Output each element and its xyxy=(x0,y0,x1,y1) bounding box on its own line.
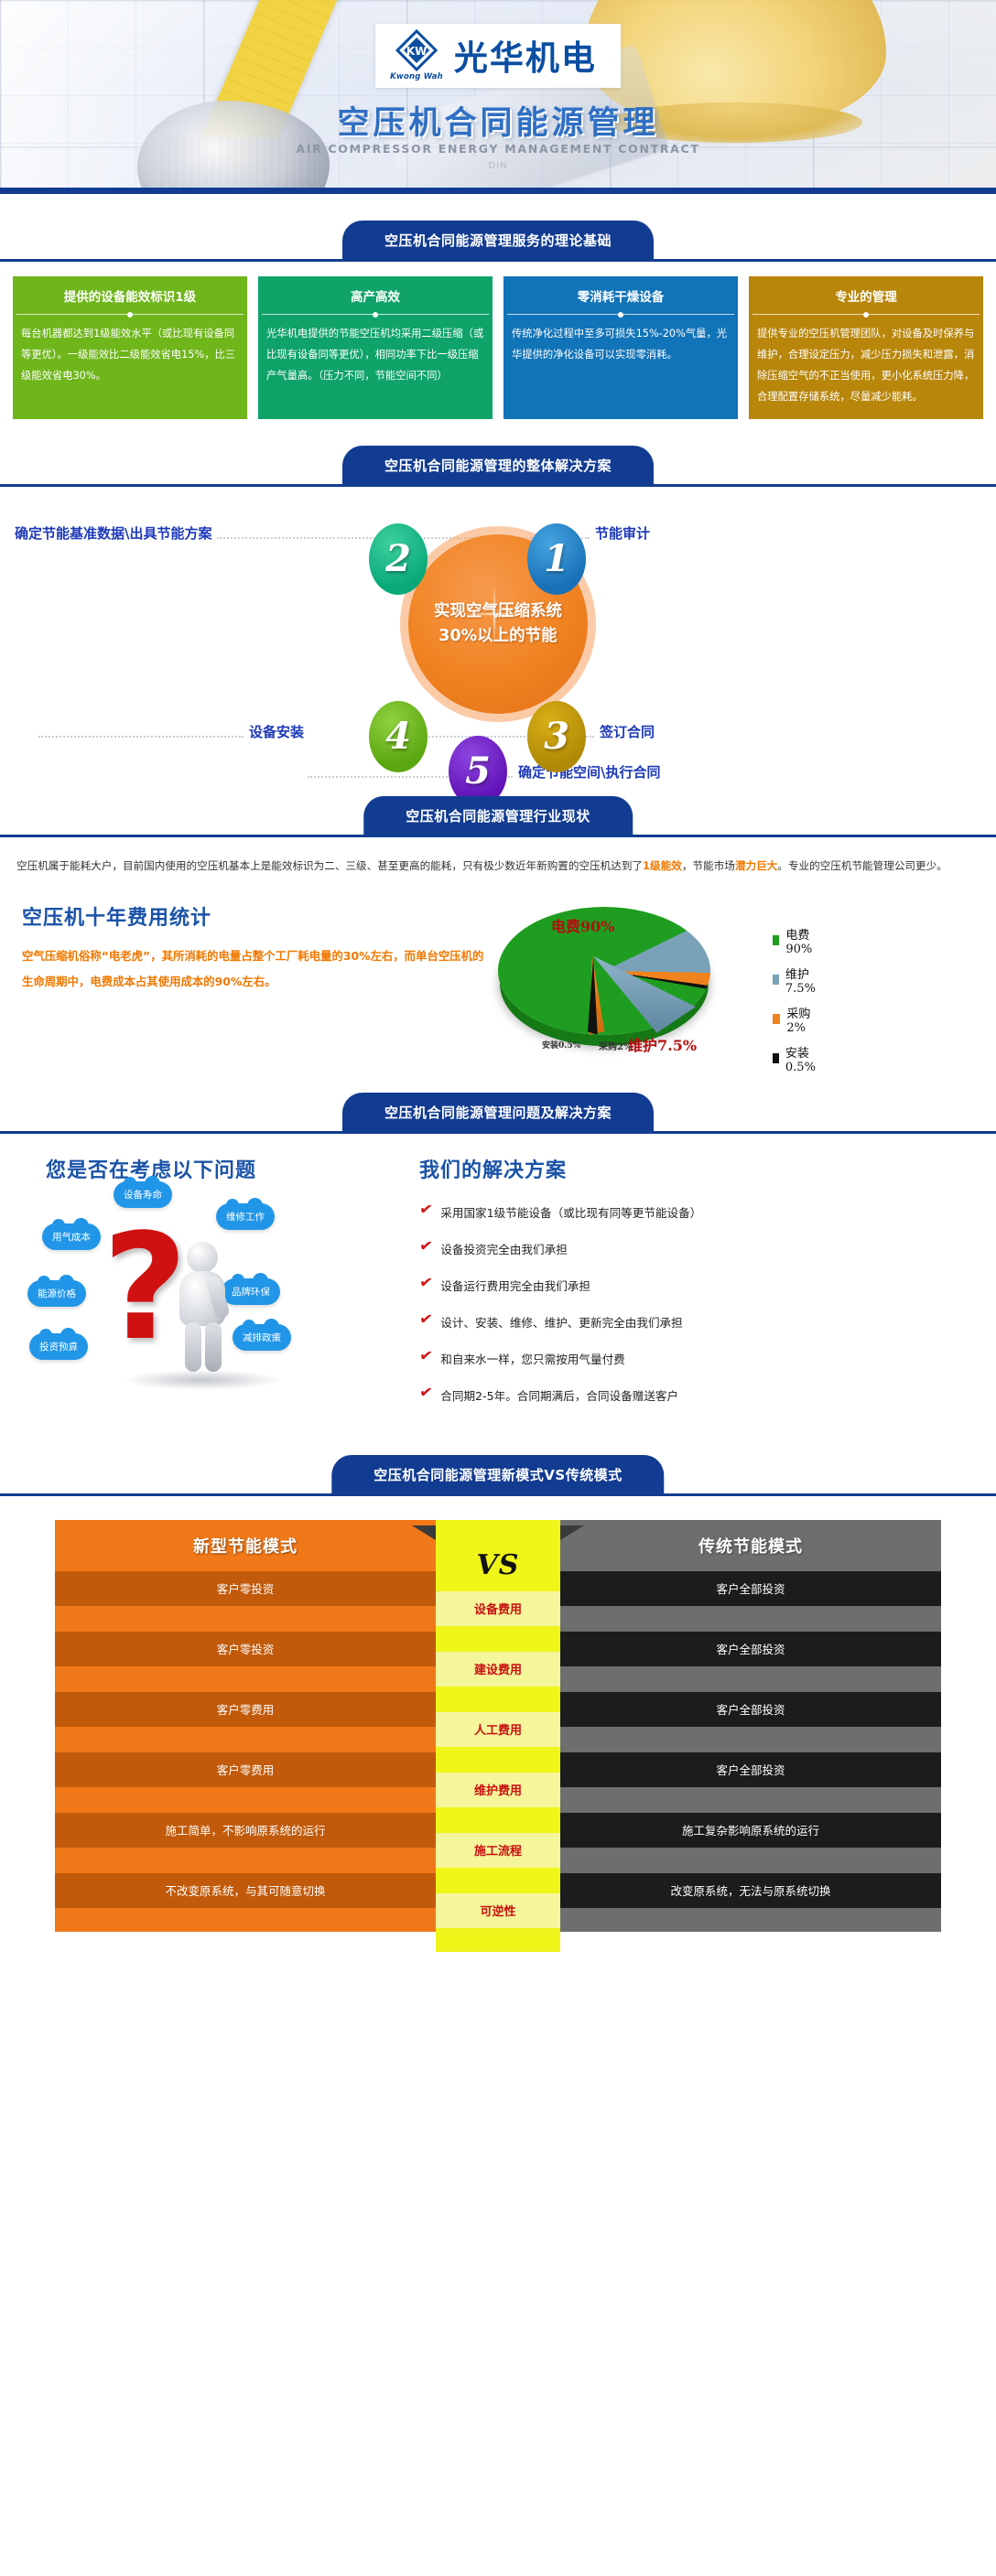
circle-node-1[interactable]: 1 xyxy=(527,523,586,595)
problem-cloud-investment-budget: 投资预算 xyxy=(29,1333,88,1360)
column-header-traditional: 传统节能模式 xyxy=(560,1520,941,1571)
solution-text: 采用国家1级节能设备（或比现有同等更节能设备） xyxy=(440,1203,701,1221)
table-row: 建设费用 xyxy=(436,1652,560,1687)
pie-data-label-electricity: 电费90% xyxy=(551,914,614,936)
table-row: 客户全部投资 xyxy=(560,1632,941,1666)
legend-label: 维护7.5% xyxy=(785,965,819,996)
card-title: 提供的设备能效标识1级 xyxy=(13,276,247,314)
row-spacer xyxy=(55,1727,436,1752)
core-line-2: 30%以上的节能 xyxy=(438,624,557,649)
problems-column: 您是否在考虑以下问题 设备寿命 维修工作 用气成本 能源价格 品牌环保 减排政策… xyxy=(15,1154,408,1428)
solution-text: 设计、安装、维修、维护、更新完全由我们承担 xyxy=(440,1313,682,1331)
row-spacer xyxy=(436,1626,560,1652)
legend-swatch-electricity xyxy=(773,935,779,945)
logo-company-name: 光华机电 xyxy=(454,30,597,80)
legend-swatch-purchase xyxy=(773,1014,780,1024)
circle-label-1: 节能审计 xyxy=(595,523,650,543)
list-item: ✔ 设计、安装、维修、维护、更新完全由我们承担 xyxy=(419,1313,981,1331)
cost-heading: 空压机十年费用统计 xyxy=(22,901,485,931)
problem-cloud-repair-work: 维修工作 xyxy=(216,1203,275,1230)
circle-label-4: 设备安装 xyxy=(249,722,304,741)
row-spacer xyxy=(560,1848,941,1873)
pie-data-label-installation: 安装0.5% xyxy=(542,1039,580,1051)
check-icon: ✔ xyxy=(418,1275,433,1292)
theory-card-2: 高产高效 光华机电提供的节能空压机均采用二级压缩（或比现有设备同等更优），相同功… xyxy=(258,276,493,419)
table-row: 客户零费用 xyxy=(55,1692,436,1727)
card-title: 高产高效 xyxy=(258,276,493,314)
core-line-1: 实现空气压缩系统 xyxy=(434,599,562,624)
circle-node-4[interactable]: 4 xyxy=(369,701,428,772)
table-row: 客户全部投资 xyxy=(560,1752,941,1787)
row-spacer xyxy=(560,1606,941,1632)
comparison-column-new: 新型节能模式 客户零投资 客户零投资 客户零费用 客户零费用 施工简单，不影响原… xyxy=(55,1520,436,1952)
check-icon: ✔ xyxy=(418,1238,433,1256)
table-row: 客户零费用 xyxy=(55,1752,436,1787)
legend-label: 采购2% xyxy=(786,1004,819,1035)
theory-card-4: 专业的管理 提供专业的空压机管理团队，对设备及时保养与维护，合理设定压力，减少压… xyxy=(749,276,983,419)
card-body: 光华机电提供的节能空压机均采用二级压缩（或比现有设备同等更优），相同功率下比一级… xyxy=(258,315,493,397)
check-icon: ✔ xyxy=(418,1311,433,1329)
check-icon: ✔ xyxy=(418,1348,433,1365)
card-divider xyxy=(507,314,734,315)
legend-label: 电费90% xyxy=(785,925,819,956)
card-divider xyxy=(262,314,489,315)
pie-data-label-maintenance: 维护7.5% xyxy=(628,1033,697,1055)
table-row: 施工复杂影响原系统的运行 xyxy=(560,1813,941,1848)
solution-circle-diagram: 确定节能基准数据\出具节能方案 节能审计 设备安装 签订合同 确定节能空间\执行… xyxy=(0,490,996,770)
table-row: 施工简单，不影响原系统的运行 xyxy=(55,1813,436,1848)
logo-mark: KW Kwong Wah xyxy=(390,29,443,81)
card-divider xyxy=(752,314,980,315)
industry-highlight-1: 1级能效 xyxy=(643,859,682,872)
row-spacer xyxy=(560,1666,941,1692)
industry-status-body: 空压机属于能耗大户，目前国内使用的空压机基本上是能效标识为二、三级、甚至更高的能… xyxy=(0,837,996,1066)
table-row: 客户全部投资 xyxy=(560,1692,941,1727)
solutions-column: 我们的解决方案 ✔ 采用国家1级节能设备（或比现有同等更节能设备） ✔ 设备投资… xyxy=(408,1154,981,1428)
list-item: ✔ 采用国家1级节能设备（或比现有同等更节能设备） xyxy=(419,1203,981,1221)
list-item: ✔ 设备运行费用完全由我们承担 xyxy=(419,1277,981,1294)
table-row: 不改变原系统，与其可随意切换 xyxy=(55,1873,436,1908)
table-row: 施工流程 xyxy=(436,1833,560,1868)
pie-legend: 电费90% 维护7.5% 采购2% 安装0.5% xyxy=(773,925,819,1083)
section-header-compare: 空压机合同能源管理新模式VS传统模式 xyxy=(0,1456,996,1496)
comparison-table-wrap: 新型节能模式 客户零投资 客户零投资 客户零费用 客户零费用 施工简单，不影响原… xyxy=(0,1496,996,1952)
table-row: 客户零投资 xyxy=(55,1632,436,1666)
circle-node-2[interactable]: 2 xyxy=(369,523,428,595)
card-title: 专业的管理 xyxy=(749,276,983,314)
row-spacer xyxy=(560,1787,941,1813)
problems-heading: 您是否在考虑以下问题 xyxy=(46,1154,408,1183)
legend-item: 电费90% xyxy=(773,925,819,956)
theory-card-1: 提供的设备能效标识1级 每台机器都达到1级能效水平（或比现有设备同等更优）。一级… xyxy=(13,276,247,419)
row-spacer xyxy=(436,1807,560,1833)
table-row: 设备费用 xyxy=(436,1591,560,1626)
section-header-industry: 空压机合同能源管理行业现状 xyxy=(0,797,996,837)
svg-text:KW: KW xyxy=(406,45,428,58)
circle-node-3[interactable]: 3 xyxy=(527,701,586,772)
kw-diamond-icon: KW xyxy=(395,29,438,71)
solution-text: 设备运行费用完全由我们承担 xyxy=(440,1277,590,1294)
section-header-problems: 空压机合同能源管理问题及解决方案 xyxy=(0,1094,996,1134)
card-body: 提供专业的空压机管理团队，对设备及时保养与维护，合理设定压力，减少压力损失和泄露… xyxy=(749,315,983,419)
card-title: 零消耗干燥设备 xyxy=(503,276,738,314)
cost-paragraph: 空气压缩机俗称“电老虎”，其所消耗的电量占整个工厂耗电量的30%左右，而单台空压… xyxy=(22,943,485,996)
column-tail xyxy=(436,1928,560,1952)
list-item: ✔ 设备投资完全由我们承担 xyxy=(419,1240,981,1257)
industry-text-a: 空压机属于能耗大户，目前国内使用的空压机基本上是能效标识为二、三级、甚至更高的能… xyxy=(16,859,643,872)
table-row: 人工费用 xyxy=(436,1712,560,1747)
theory-card-3: 零消耗干燥设备 传统净化过程中至多可损失15%-20%气量，光华提供的净化设备可… xyxy=(503,276,738,419)
cost-statistics-block: 空压机十年费用统计 空气压缩机俗称“电老虎”，其所消耗的电量占整个工厂耗电量的3… xyxy=(16,892,980,1066)
figure-head xyxy=(187,1242,218,1273)
company-logo[interactable]: KW Kwong Wah 光华机电 xyxy=(375,24,621,88)
column-tail xyxy=(55,1908,436,1932)
comparison-table: 新型节能模式 客户零投资 客户零投资 客户零费用 客户零费用 施工简单，不影响原… xyxy=(55,1520,941,1952)
section-title-compare: 空压机合同能源管理新模式VS传统模式 xyxy=(331,1455,664,1493)
vs-badge: VS xyxy=(436,1540,560,1591)
hero-subtitle-secondary: DIN xyxy=(0,161,996,171)
pie-data-label-purchase: 采购2% xyxy=(599,1039,632,1052)
hero-subtitle-english: AIR COMPRESSOR ENERGY MANAGEMENT CONTRAC… xyxy=(0,142,996,156)
figure-leg-right xyxy=(205,1322,222,1372)
row-spacer xyxy=(436,1868,560,1893)
check-icon: ✔ xyxy=(418,1202,433,1219)
legend-item: 维护7.5% xyxy=(773,965,819,996)
industry-text-c: 。专业的空压机节能管理公司更少。 xyxy=(777,859,947,872)
section-header-theory: 空压机合同能源管理服务的理论基础 xyxy=(0,221,996,262)
solution-text: 设备投资完全由我们承担 xyxy=(440,1240,568,1257)
thinking-person-figure xyxy=(170,1242,236,1370)
table-row: 客户全部投资 xyxy=(560,1571,941,1606)
card-body: 传统净化过程中至多可损失15%-20%气量，光华提供的净化设备可以实现零消耗。 xyxy=(503,315,738,376)
section-title-industry: 空压机合同能源管理行业现状 xyxy=(363,796,633,835)
problem-cloud-emission-policy: 减排政策 xyxy=(233,1324,291,1351)
section-title-problems: 空压机合同能源管理问题及解决方案 xyxy=(342,1093,654,1131)
table-row: 客户零投资 xyxy=(55,1571,436,1606)
solutions-list: ✔ 采用国家1级节能设备（或比现有同等更节能设备） ✔ 设备投资完全由我们承担 … xyxy=(419,1203,981,1404)
theory-cards: 提供的设备能效标识1级 每台机器都达到1级能效水平（或比现有设备同等更优）。一级… xyxy=(0,262,996,419)
row-spacer xyxy=(436,1687,560,1712)
list-item: ✔ 和自来水一样，您只需按用气量付费 xyxy=(419,1350,981,1367)
hero-banner: KW Kwong Wah 光华机电 空压机合同能源管理 AIR COMPRESS… xyxy=(0,0,996,194)
table-row: 维护费用 xyxy=(436,1773,560,1807)
logo-romanized-name: Kwong Wah xyxy=(390,73,443,81)
legend-item: 安装0.5% xyxy=(773,1043,819,1074)
card-body: 每台机器都达到1级能效水平（或比现有设备同等更优）。一级能效比二级能效省电15%… xyxy=(13,315,247,397)
legend-label: 安装0.5% xyxy=(785,1043,819,1074)
industry-highlight-2: 潜力巨大 xyxy=(735,859,777,872)
row-spacer xyxy=(55,1606,436,1632)
table-row: 可逆性 xyxy=(436,1893,560,1928)
section-title-theory: 空压机合同能源管理服务的理论基础 xyxy=(342,221,654,259)
industry-text-b: ，节能市场 xyxy=(682,859,735,872)
legend-swatch-maintenance xyxy=(773,975,779,985)
landing-page: KW Kwong Wah 光华机电 空压机合同能源管理 AIR COMPRESS… xyxy=(0,0,996,1952)
figure-leg-left xyxy=(185,1322,201,1372)
row-spacer xyxy=(55,1787,436,1813)
card-divider xyxy=(16,314,244,315)
comparison-column-criteria: VS 设备费用 建设费用 人工费用 维护费用 施工流程 可逆性 xyxy=(436,1520,560,1952)
row-spacer xyxy=(55,1666,436,1692)
cost-text-column: 空压机十年费用统计 空气压缩机俗称“电老虎”，其所消耗的电量占整个工厂耗电量的3… xyxy=(16,892,493,1066)
vs-banner-top xyxy=(436,1520,560,1540)
section-title-solution: 空压机合同能源管理的整体解决方案 xyxy=(342,446,654,484)
solution-text: 合同期2-5年。合同期满后，合同设备赠送客户 xyxy=(440,1386,678,1404)
problem-cloud-air-cost: 用气成本 xyxy=(42,1223,101,1250)
section-header-solution: 空压机合同能源管理的整体解决方案 xyxy=(0,447,996,487)
cost-pie-column: 电费90% 维护7.5% 采购2% 安装0.5% 电费90% 维护7.5% xyxy=(493,892,980,1066)
solutions-heading: 我们的解决方案 xyxy=(419,1154,981,1183)
row-spacer xyxy=(55,1848,436,1873)
solution-text: 和自来水一样，您只需按用气量付费 xyxy=(440,1350,625,1367)
column-tail xyxy=(560,1908,941,1932)
problems-solutions-block: 您是否在考虑以下问题 设备寿命 维修工作 用气成本 能源价格 品牌环保 减排政策… xyxy=(0,1134,996,1428)
row-spacer xyxy=(436,1747,560,1773)
column-header-new: 新型节能模式 xyxy=(55,1520,436,1571)
list-item: ✔ 合同期2-5年。合同期满后，合同设备赠送客户 xyxy=(419,1386,981,1404)
comparison-column-traditional: 传统节能模式 客户全部投资 客户全部投资 客户全部投资 客户全部投资 施工复杂影… xyxy=(560,1520,941,1952)
circle-label-3: 签订合同 xyxy=(600,722,655,741)
legend-swatch-installation xyxy=(773,1053,779,1063)
row-spacer xyxy=(560,1727,941,1752)
legend-item: 采购2% xyxy=(773,1004,819,1035)
hero-title: 空压机合同能源管理 xyxy=(0,97,996,144)
industry-paragraph: 空压机属于能耗大户，目前国内使用的空压机基本上是能效标识为二、三级、甚至更高的能… xyxy=(16,854,980,878)
check-icon: ✔ xyxy=(418,1385,433,1402)
table-row: 改变原系统，无法与原系统切换 xyxy=(560,1873,941,1908)
circle-label-2: 确定节能基准数据\出具节能方案 xyxy=(15,523,211,543)
pie-chart: 电费90% 维护7.5% 采购2% 安装0.5% 电费90% 维护7.5% xyxy=(498,900,763,1055)
figure-shadow xyxy=(124,1370,280,1390)
problem-cloud-energy-price: 能源价格 xyxy=(27,1280,86,1307)
